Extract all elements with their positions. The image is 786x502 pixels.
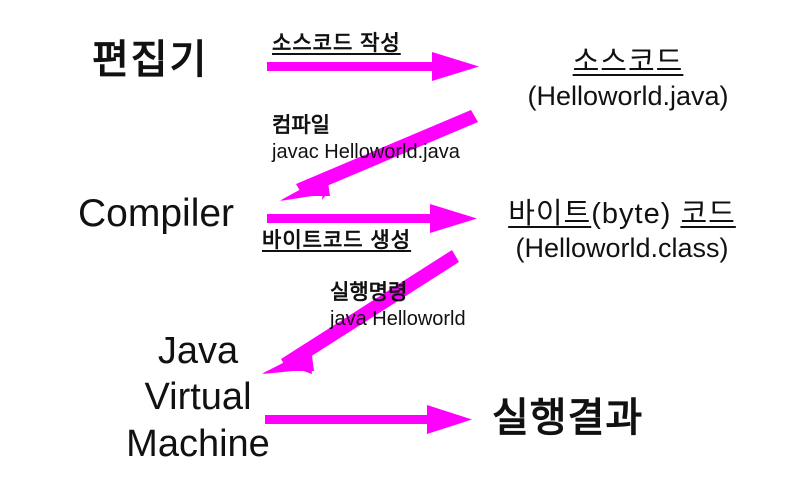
node-bytecode-title-kr1: 바이트	[508, 198, 591, 230]
node-compiler: Compiler	[78, 192, 234, 236]
node-source-file: 소스코드 (Helloworld.java)	[478, 38, 778, 112]
edge-label-run-text: 실행명령	[330, 281, 407, 304]
node-source-file-title: 소스코드	[478, 38, 778, 80]
edge-label-write-source-text: 소스코드 작성	[272, 32, 401, 55]
node-editor: 편집기	[92, 38, 208, 83]
node-source-file-name: (Helloworld.java)	[478, 81, 778, 112]
node-jvm-line-2: Virtual	[118, 374, 278, 420]
node-bytecode-title-kr2: 코드	[680, 198, 735, 230]
node-bytecode-file: 바이트(byte) 코드 (Helloworld.class)	[462, 190, 782, 264]
arrow-jvm-to-result	[265, 405, 472, 434]
node-jvm-line-1: Java	[118, 328, 278, 374]
node-execution-result: 실행결과	[492, 396, 643, 441]
edge-label-bytecode-gen: 바이트코드 생성	[262, 228, 411, 253]
java-execution-flow-diagram: 편집기 Compiler Java Virtual Machine 소스코드 (…	[0, 0, 786, 502]
node-bytecode-file-title: 바이트(byte) 코드	[462, 190, 782, 232]
arrow-editor-to-source	[267, 52, 479, 81]
node-bytecode-file-name: (Helloworld.class)	[462, 233, 782, 264]
node-bytecode-title-latin: (byte)	[591, 198, 671, 230]
edge-label-compile-command: javac Helloworld.java	[272, 140, 460, 164]
node-jvm: Java Virtual Machine	[118, 328, 278, 467]
node-jvm-line-3: Machine	[118, 421, 278, 467]
edge-label-compile-text: 컴파일	[272, 114, 330, 137]
edge-label-run: 실행명령 java Helloworld	[330, 280, 466, 331]
edge-label-bytecode-gen-text: 바이트코드 생성	[262, 229, 411, 252]
edge-label-write-source: 소스코드 작성	[272, 31, 401, 56]
edge-label-run-command: java Helloworld	[330, 307, 466, 331]
edge-label-compile: 컴파일 javac Helloworld.java	[272, 113, 460, 164]
